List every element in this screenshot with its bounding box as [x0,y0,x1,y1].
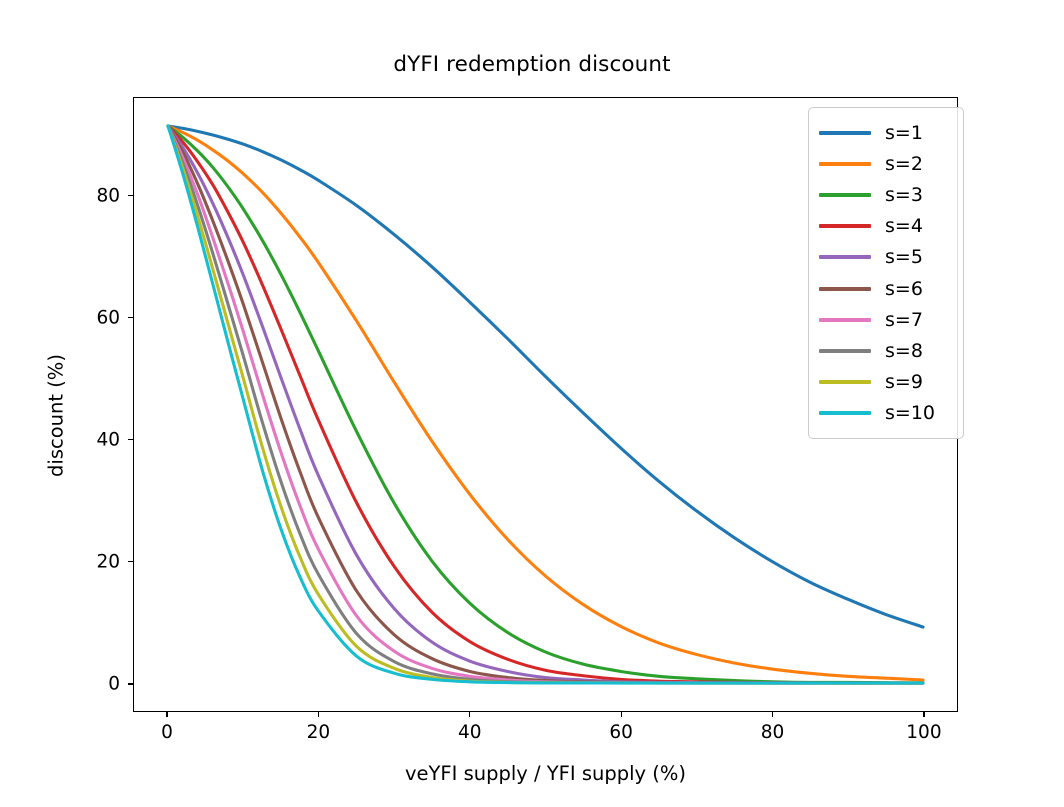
legend-color-swatch [819,411,871,415]
legend-label: s=9 [885,371,923,393]
legend-color-swatch [819,349,871,353]
legend-item-s6[interactable]: s=6 [819,273,953,304]
legend-label: s=2 [885,153,923,175]
legend-color-swatch [819,131,871,135]
x-tick-label: 20 [307,722,331,743]
x-tick-mark [621,712,622,717]
legend-color-swatch [819,287,871,291]
page-title: dYFI redemption discount [0,52,1064,77]
legend-label: s=5 [885,246,923,268]
legend: s=1s=2s=3s=4s=5s=6s=7s=8s=9s=10 [808,107,964,439]
x-tick-mark [923,712,924,717]
legend-color-swatch [819,318,871,322]
legend-item-s10[interactable]: s=10 [819,398,953,429]
x-tick-label: 100 [906,722,941,743]
y-tick-label: 80 [48,185,120,206]
legend-label: s=7 [885,309,923,331]
legend-item-s3[interactable]: s=3 [819,179,953,210]
y-axis-label: discount (%) [45,316,68,516]
x-tick-mark [166,712,167,717]
legend-item-s4[interactable]: s=4 [819,211,953,242]
legend-color-swatch [819,162,871,166]
x-tick-label: 0 [161,722,173,743]
legend-item-s7[interactable]: s=7 [819,304,953,335]
legend-color-swatch [819,193,871,197]
x-tick-mark [318,712,319,717]
matplotlib-figure: dYFI redemption discount discount (%) ve… [0,0,1064,807]
y-tick-label: 60 [48,307,120,328]
x-tick-label: 80 [761,722,785,743]
x-tick-label: 40 [458,722,482,743]
y-tick-label: 40 [48,429,120,450]
x-tick-mark [772,712,773,717]
legend-color-swatch [819,224,871,228]
legend-label: s=8 [885,340,923,362]
legend-item-s5[interactable]: s=5 [819,242,953,273]
legend-item-s1[interactable]: s=1 [819,117,953,148]
legend-label: s=1 [885,122,923,144]
legend-color-swatch [819,380,871,384]
legend-item-s8[interactable]: s=8 [819,335,953,366]
legend-label: s=4 [885,215,923,237]
legend-label: s=3 [885,184,923,206]
x-tick-label: 60 [609,722,633,743]
x-axis-label: veYFI supply / YFI supply (%) [133,762,958,785]
legend-item-s9[interactable]: s=9 [819,367,953,398]
y-tick-label: 0 [48,673,120,694]
x-tick-mark [469,712,470,717]
legend-item-s2[interactable]: s=2 [819,148,953,179]
legend-label: s=6 [885,278,923,300]
legend-color-swatch [819,255,871,259]
legend-label: s=10 [885,402,935,424]
y-tick-label: 20 [48,551,120,572]
